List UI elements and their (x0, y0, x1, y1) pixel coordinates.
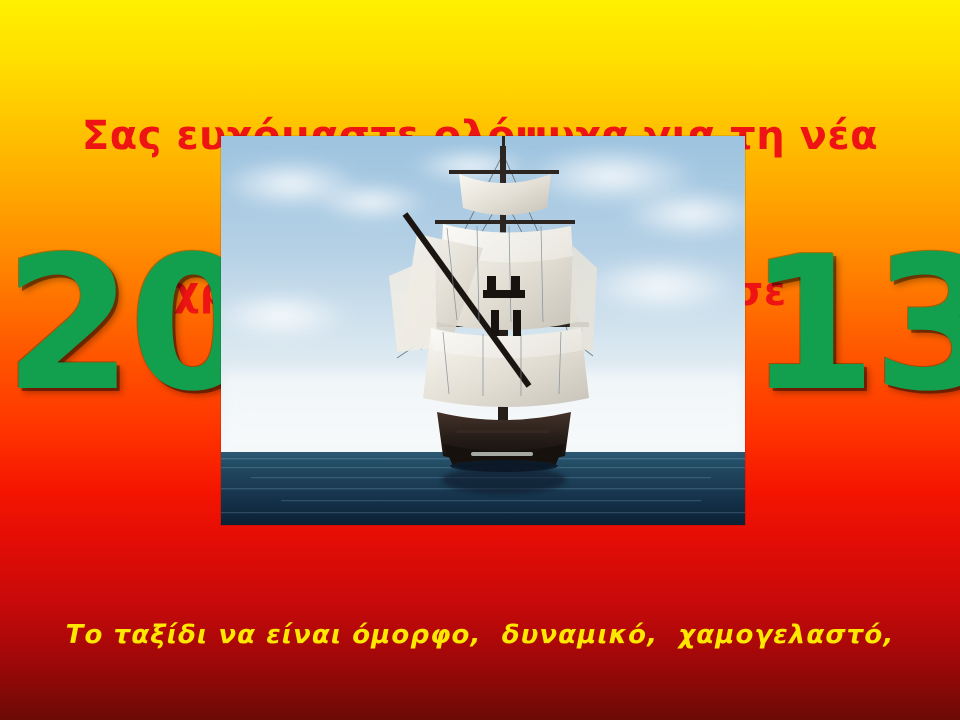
tall-ship-photo (221, 136, 745, 525)
greeting-card: Σας ευχόμαστε ολόψυχα για τη νέα χρονιά … (0, 0, 960, 720)
year-digits-right: 13 (748, 232, 960, 417)
greeting-verse: Το ταξίδι να είναι όμορφο, δυναμικό, χαμ… (0, 543, 960, 720)
verse-line-1: Το ταξίδι να είναι όμορφο, δυναμικό, χαμ… (0, 617, 960, 654)
year-digits-left: 20 (4, 232, 253, 417)
tall-ship-icon (221, 136, 745, 525)
